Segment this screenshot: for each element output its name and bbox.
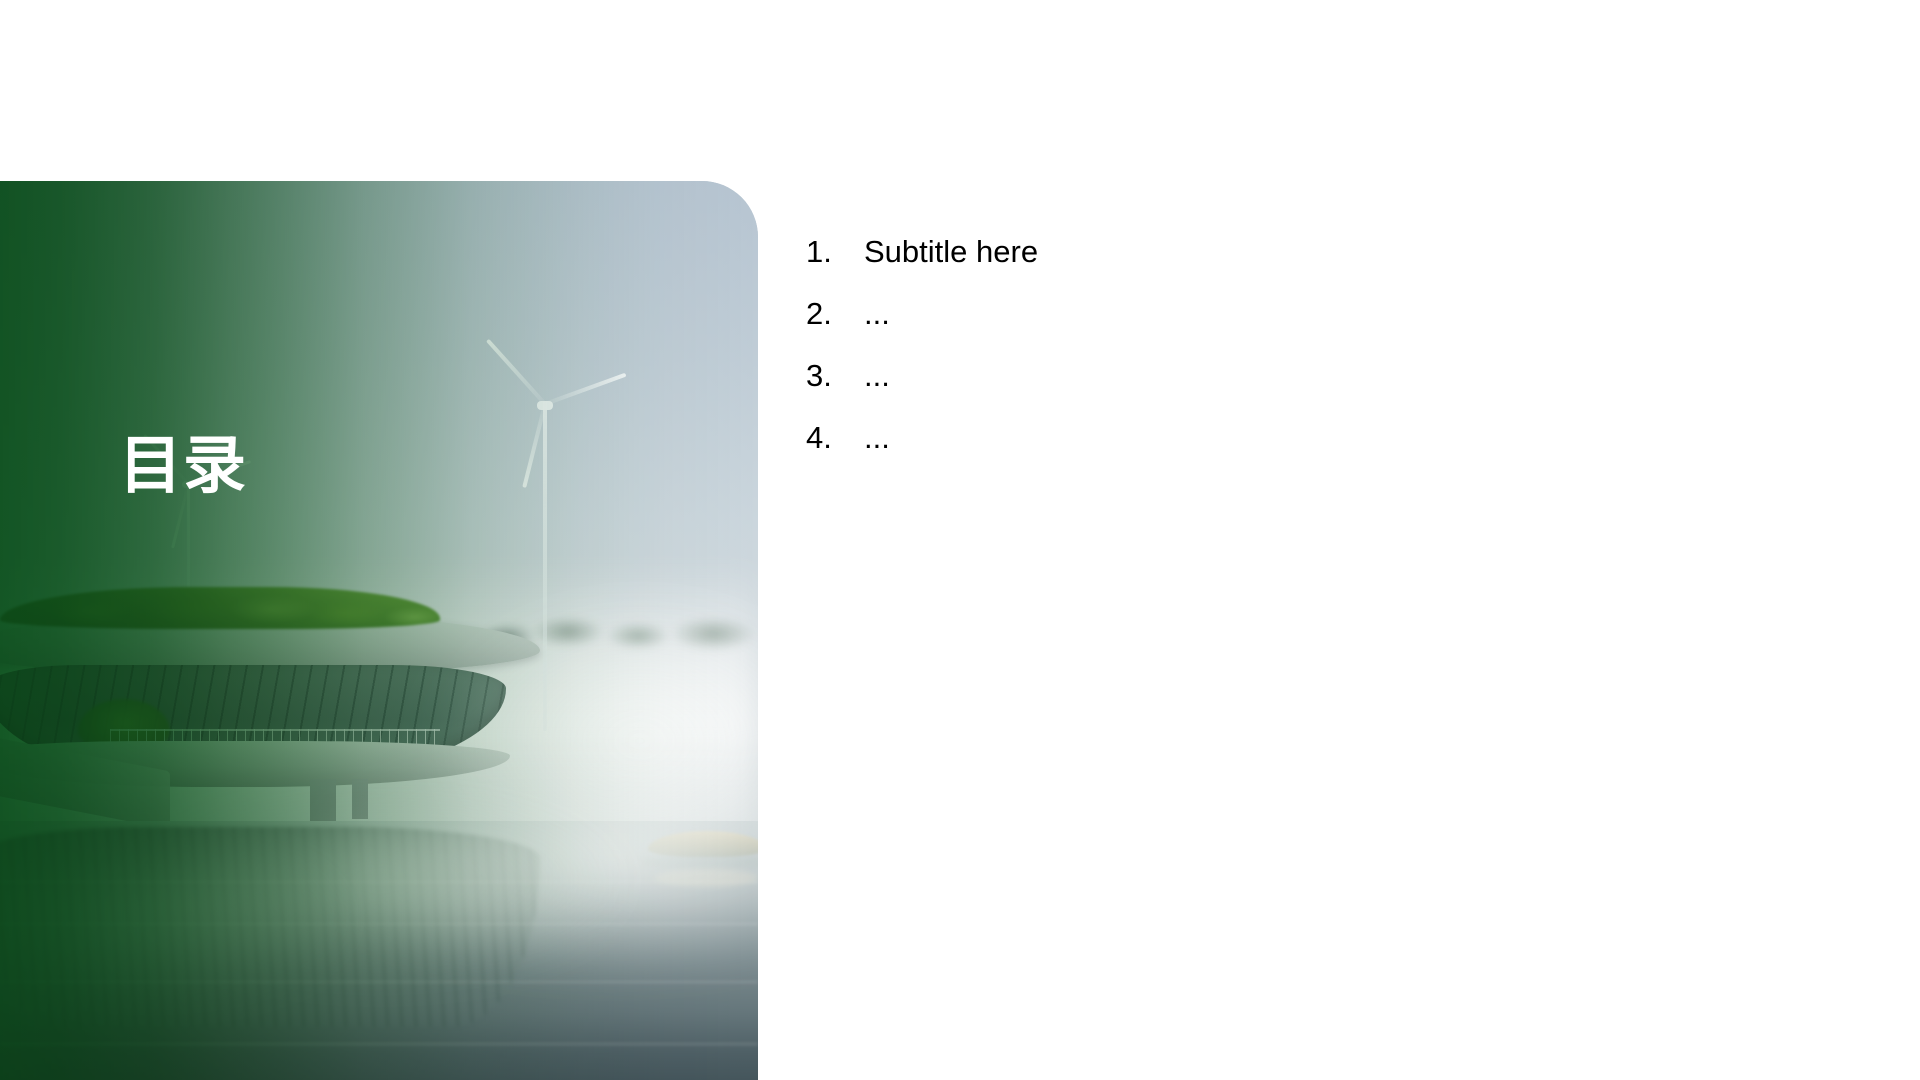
list-item-marker: 3. (806, 360, 864, 391)
hero-image-panel: 目录 (0, 181, 758, 1080)
list-item-marker: 1. (806, 236, 864, 267)
page-title: 目录 (119, 433, 247, 500)
table-of-contents-list: 1. Subtitle here 2. ... 3. ... 4. ... (806, 236, 1826, 484)
list-item[interactable]: 3. ... (806, 360, 1826, 422)
green-brand-overlay-tint (0, 181, 758, 1080)
list-item-label: ... (864, 298, 1826, 329)
list-item[interactable]: 1. Subtitle here (806, 236, 1826, 298)
list-item-marker: 4. (806, 422, 864, 453)
list-item-label: Subtitle here (864, 236, 1826, 267)
slide-root: 目录 1. Subtitle here 2. ... 3. ... 4. ... (0, 0, 1920, 1080)
list-item-label: ... (864, 360, 1826, 391)
list-item[interactable]: 2. ... (806, 298, 1826, 360)
list-item[interactable]: 4. ... (806, 422, 1826, 484)
list-item-label: ... (864, 422, 1826, 453)
list-item-marker: 2. (806, 298, 864, 329)
